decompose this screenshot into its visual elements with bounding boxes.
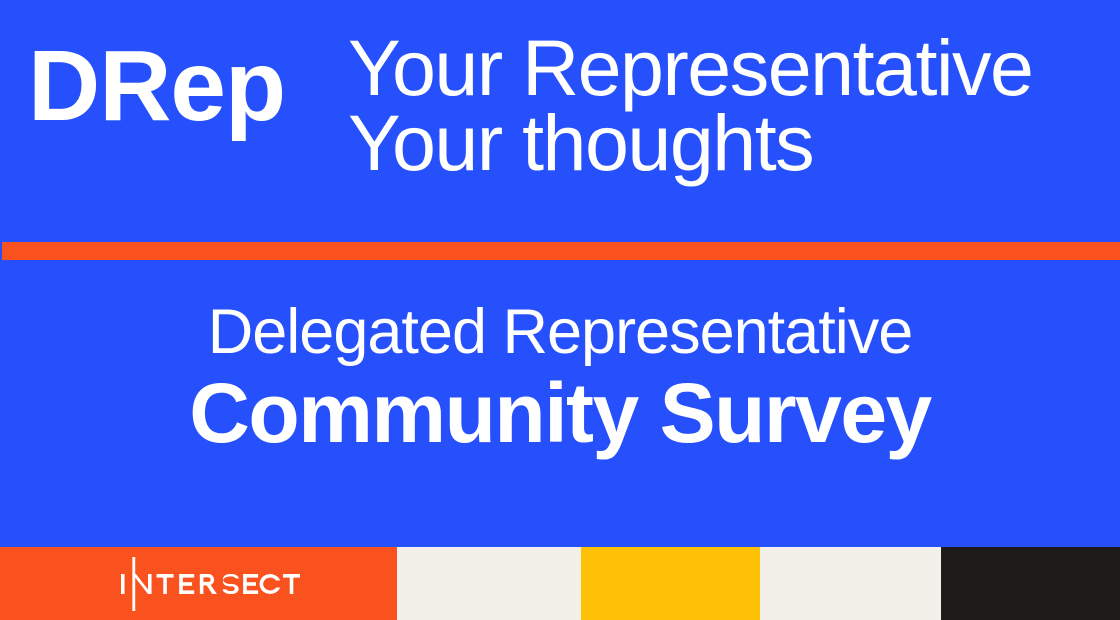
tagline-line-1: Your Representative [348,30,1032,105]
page-title: Community Survey [0,366,1120,460]
footer-orange-block [0,547,397,620]
footer-cream-block-2 [760,547,941,620]
brand-wordmark: DRep [28,36,285,136]
survey-subtitle: Delegated Representative [0,298,1120,366]
header-tagline: Your Representative Your thoughts [348,30,1032,180]
footer-band [0,547,1120,620]
body-band: Delegated Representative Community Surve… [0,260,1120,547]
survey-title-block: Delegated Representative Community Surve… [0,298,1120,460]
tagline-line-2: Your thoughts [348,105,1032,180]
survey-poster: DRep Your Representative Your thoughts D… [0,0,1120,620]
intersect-logo [121,557,300,611]
footer-yellow-block [581,547,760,620]
header-band: DRep Your Representative Your thoughts [0,0,1120,242]
divider-rule [2,242,1120,260]
footer-cream-block-1 [397,547,581,620]
footer-dark-block [941,547,1120,620]
